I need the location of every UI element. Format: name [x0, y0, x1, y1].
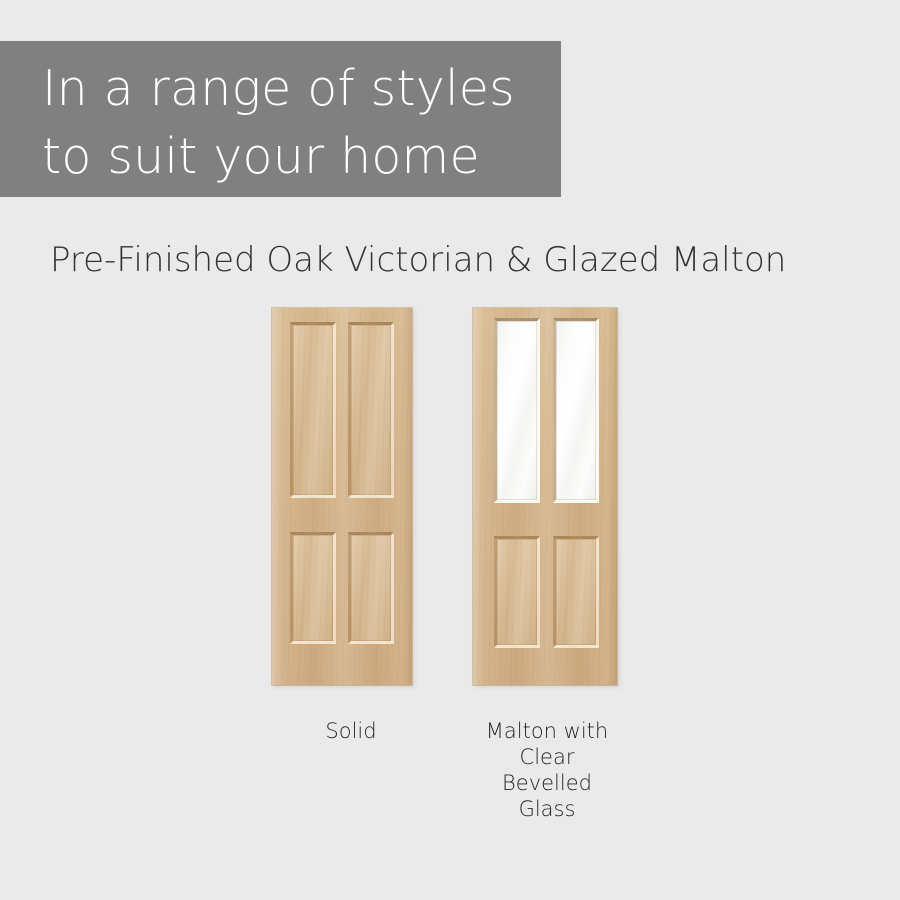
caption-line: Malton with — [458, 718, 636, 744]
door-panel-lower-right — [348, 532, 394, 644]
door-panel-lower-right — [553, 536, 599, 648]
door-glass-pane-right — [553, 318, 599, 503]
door-glass-pane-left — [494, 318, 540, 503]
door-panel-upper-left — [290, 322, 336, 498]
caption-line: Bevelled — [458, 770, 636, 796]
product-subtitle: Pre-Finished Oak Victorian & Glazed Malt… — [50, 239, 860, 281]
door-panel-lower-left — [290, 532, 336, 644]
door-panel-upper-right — [348, 322, 394, 498]
headline-line-2: to suit your home — [42, 123, 561, 191]
door-panel-lower-left — [494, 536, 540, 648]
caption-glazed-malton: Malton with Clear Bevelled Glass — [458, 718, 636, 822]
headline-banner: In a range of styles to suit your home — [0, 41, 561, 197]
headline-line-1: In a range of styles — [42, 55, 561, 123]
door-image-solid-victorian — [272, 308, 412, 685]
caption-solid-victorian: Solid — [262, 718, 440, 744]
door-images-stage — [0, 300, 900, 700]
caption-line: Clear — [458, 744, 636, 770]
caption-line: Glass — [458, 796, 636, 822]
door-image-glazed-malton — [473, 308, 617, 685]
caption-line: Solid — [262, 718, 440, 744]
